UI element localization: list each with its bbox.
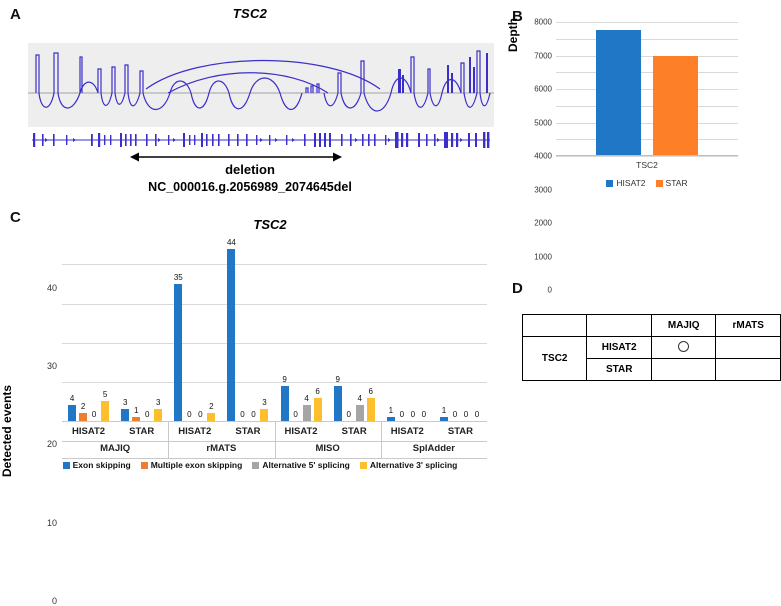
table-cell xyxy=(651,337,716,359)
sashimi-plot xyxy=(28,43,494,127)
y-axis-tick: 30 xyxy=(47,361,57,371)
y-axis-tick: 7000 xyxy=(534,51,552,60)
bar-value-label: 2 xyxy=(209,402,213,411)
bar-value-label: 9 xyxy=(282,375,286,384)
gridline: 3000 xyxy=(556,106,738,107)
axis-separator xyxy=(168,440,169,459)
y-axis-tick: 4000 xyxy=(534,152,552,161)
bar xyxy=(154,409,162,421)
y-axis-tick: 6000 xyxy=(534,85,552,94)
gridline: 0 xyxy=(556,156,738,157)
bar-value-label: 1 xyxy=(442,406,446,415)
gridline: 6000 xyxy=(556,56,738,57)
x-axis-aligner-label: HISAT2 xyxy=(168,422,221,441)
deletion-coordinate: NC_000016.g.2056989_2074645del xyxy=(0,180,500,194)
bar-value-label: 0 xyxy=(346,410,350,419)
axis-separator xyxy=(275,440,276,459)
x-axis-tool-label: MISO xyxy=(275,440,381,458)
panel-c-title: TSC2 xyxy=(60,217,480,232)
bar-value-label: 0 xyxy=(464,410,468,419)
table-row-header: STAR xyxy=(587,359,652,381)
panel-b: B Depth 01000200030004000500060007000800… xyxy=(500,0,781,205)
gridline: 4000 xyxy=(556,89,738,90)
bar-value-label: 4 xyxy=(357,394,361,403)
legend-swatch xyxy=(141,462,148,469)
legend-label: HISAT2 xyxy=(616,178,645,188)
bar xyxy=(121,409,129,421)
bar-value-label: 3 xyxy=(156,398,160,407)
panel-a: A TSC2 xyxy=(0,0,500,205)
bar-value-label: 0 xyxy=(422,410,426,419)
panel-d: D MAJIQrMATSTSC2HISAT2STAR xyxy=(500,270,781,420)
bar-value-label: 0 xyxy=(475,410,479,419)
y-axis-tick: 0 xyxy=(52,596,57,606)
gridline: 8000 xyxy=(556,22,738,23)
gene-model-track xyxy=(28,131,494,149)
x-axis-aligner-label: HISAT2 xyxy=(275,422,328,441)
gene-model-svg xyxy=(28,131,494,149)
legend-swatch xyxy=(63,462,70,469)
gridline: 7000 xyxy=(556,39,738,40)
bar-value-label: 44 xyxy=(227,238,236,247)
gridline: 10 xyxy=(62,382,487,383)
panel-a-title: TSC2 xyxy=(0,6,500,21)
legend-label: Multiple exon skipping xyxy=(151,460,243,470)
bar xyxy=(367,398,375,421)
x-axis-tool-label: rMATS xyxy=(168,440,274,458)
legend-item: Exon skipping xyxy=(63,460,131,470)
x-axis-tool-label: MAJIQ xyxy=(62,440,168,458)
x-axis-aligner-label: HISAT2 xyxy=(62,422,115,441)
table-row: TSC2HISAT2 xyxy=(523,337,781,359)
legend-swatch xyxy=(656,180,663,187)
bar xyxy=(260,409,268,421)
panel-b-plot-area: 010002000300040005000600070008000 xyxy=(556,22,738,156)
y-axis-tick: 10 xyxy=(47,518,57,528)
bar xyxy=(314,398,322,421)
panel-d-table: MAJIQrMATSTSC2HISAT2STAR xyxy=(522,314,781,381)
bar xyxy=(281,386,289,421)
y-axis-tick: 3000 xyxy=(534,185,552,194)
axis-separator xyxy=(381,440,382,459)
bar-value-label: 0 xyxy=(92,410,96,419)
legend-item: Alternative 3' splicing xyxy=(360,460,458,470)
legend-swatch xyxy=(606,180,613,187)
x-axis-aligner-label: HISAT2 xyxy=(381,422,434,441)
bar-value-label: 4 xyxy=(304,394,308,403)
bar xyxy=(207,413,215,421)
bar-value-label: 0 xyxy=(400,410,404,419)
x-axis-tool-label: SplAdder xyxy=(381,440,487,458)
x-axis-aligner-label: STAR xyxy=(115,422,168,441)
bar-value-label: 9 xyxy=(335,375,339,384)
bar-value-label: 4 xyxy=(70,394,74,403)
legend-item: Alternative 5' splicing xyxy=(252,460,350,470)
x-axis-aligner-label: STAR xyxy=(221,422,274,441)
legend-swatch xyxy=(252,462,259,469)
table-empty-cell xyxy=(587,315,652,337)
legend-item: Multiple exon skipping xyxy=(141,460,243,470)
bar-value-label: 35 xyxy=(174,273,183,282)
panel-b-x-axis xyxy=(556,155,738,156)
bar xyxy=(227,249,235,421)
gridline: 1000 xyxy=(556,139,738,140)
bar-value-label: 0 xyxy=(198,410,202,419)
bar-value-label: 6 xyxy=(315,387,319,396)
gridline: 30 xyxy=(62,304,487,305)
panel-b-category-label: TSC2 xyxy=(556,160,738,170)
bar-value-label: 0 xyxy=(293,410,297,419)
y-axis-tick: 5000 xyxy=(534,118,552,127)
panel-b-legend: HISAT2STAR xyxy=(556,178,738,188)
x-axis-aligner-label: STAR xyxy=(434,422,487,441)
bar-hisat2 xyxy=(596,30,641,156)
table-gene-label: TSC2 xyxy=(523,337,587,381)
bar-value-label: 0 xyxy=(251,410,255,419)
table-empty-cell xyxy=(523,315,587,337)
panel-c: C TSC2 Detected events 01020304042053103… xyxy=(0,205,500,474)
bar xyxy=(79,413,87,421)
bar-value-label: 0 xyxy=(187,410,191,419)
bar-value-label: 3 xyxy=(123,398,127,407)
bar-value-label: 3 xyxy=(262,398,266,407)
table-header-row: MAJIQrMATS xyxy=(523,315,781,337)
legend-label: Exon skipping xyxy=(73,460,131,470)
table-cell xyxy=(651,359,716,381)
y-axis-tick: 1000 xyxy=(534,252,552,261)
panel-c-aligner-axis: HISAT2STARHISAT2STARHISAT2STARHISAT2STAR xyxy=(62,421,487,442)
bar-value-label: 1 xyxy=(389,406,393,415)
bar xyxy=(174,284,182,421)
panel-d-letter: D xyxy=(512,280,523,297)
gridline: 40 xyxy=(62,264,487,265)
bar xyxy=(334,386,342,421)
legend-swatch xyxy=(360,462,367,469)
panel-c-letter: C xyxy=(10,209,21,226)
bar xyxy=(356,405,364,421)
panel-c-y-axis-label: Detected events xyxy=(0,385,14,477)
bar-value-label: 1 xyxy=(134,406,138,415)
table-row-header: HISAT2 xyxy=(587,337,652,359)
bar-value-label: 0 xyxy=(453,410,457,419)
legend-label: Alternative 3' splicing xyxy=(370,460,458,470)
y-axis-tick: 2000 xyxy=(534,219,552,228)
gridline: 20 xyxy=(62,343,487,344)
x-axis-aligner-label: STAR xyxy=(328,422,381,441)
panel-b-y-axis-label: Depth xyxy=(506,18,520,52)
bar-value-label: 5 xyxy=(103,390,107,399)
table-cell xyxy=(716,359,781,381)
legend-item: HISAT2 xyxy=(606,178,645,188)
legend-item: STAR xyxy=(656,178,688,188)
deletion-label: deletion xyxy=(0,162,500,177)
bar xyxy=(101,401,109,421)
circle-marker-icon xyxy=(678,341,689,352)
panel-c-legend: Exon skippingMultiple exon skippingAlter… xyxy=(30,460,490,470)
legend-label: Alternative 5' splicing xyxy=(262,460,350,470)
table-column-header: MAJIQ xyxy=(651,315,716,337)
table-cell xyxy=(716,337,781,359)
bar-star xyxy=(653,56,698,156)
y-axis-tick: 40 xyxy=(47,283,57,293)
bar-value-label: 0 xyxy=(411,410,415,419)
gridline: 5000 xyxy=(556,72,738,73)
panel-c-plot-area: 0102030404205310335002440039046904610001… xyxy=(62,241,487,421)
bar xyxy=(68,405,76,421)
bar-value-label: 0 xyxy=(145,410,149,419)
bar-value-label: 2 xyxy=(81,402,85,411)
table-column-header: rMATS xyxy=(716,315,781,337)
y-axis-tick: 8000 xyxy=(534,18,552,27)
bar-value-label: 0 xyxy=(240,410,244,419)
y-axis-tick: 20 xyxy=(47,439,57,449)
bar-value-label: 6 xyxy=(368,387,372,396)
gridline: 2000 xyxy=(556,123,738,124)
bar xyxy=(303,405,311,421)
sashimi-svg xyxy=(28,43,494,127)
panel-c-tool-axis: MAJIQrMATSMISOSplAdder xyxy=(62,440,487,459)
legend-label: STAR xyxy=(666,178,688,188)
